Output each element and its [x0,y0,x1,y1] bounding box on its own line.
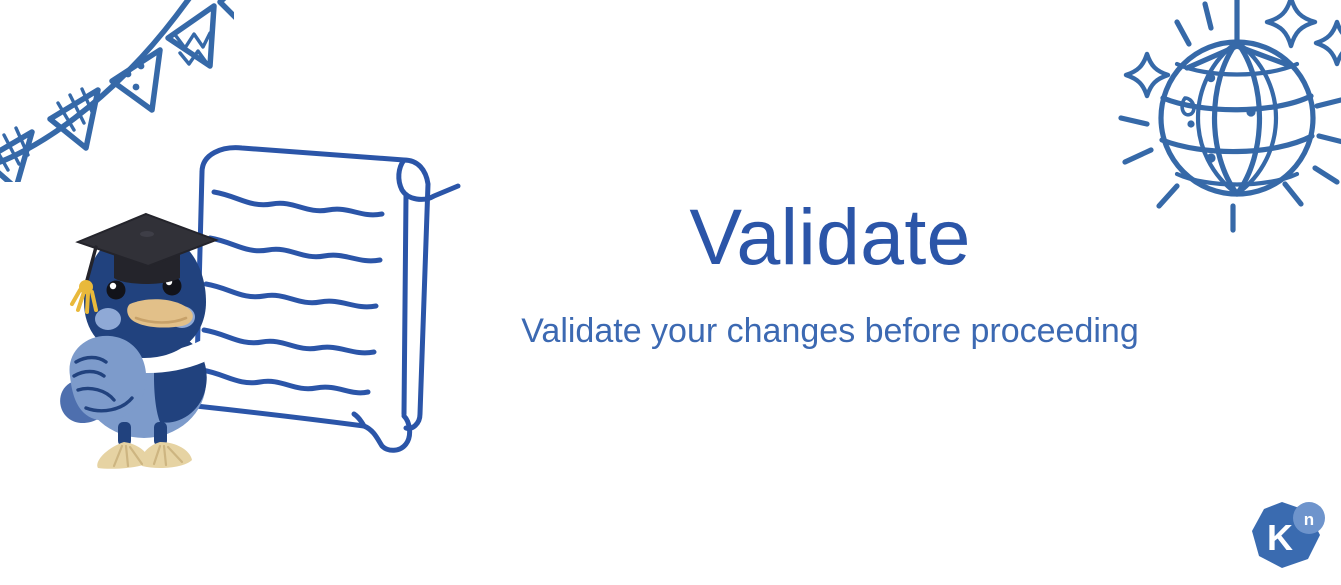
page-subtitle: Validate your changes before proceeding [470,312,1190,351]
graduate-bird-mascot [56,186,236,471]
knowledge-badge[interactable]: K n [1248,500,1326,572]
page-title: Validate [470,196,1190,279]
headline-block: Validate Validate your changes before pr… [470,196,1190,351]
badge-letter-k: K [1267,517,1293,558]
slide-canvas: Validate Validate your changes before pr… [0,0,1341,585]
badge-letter-n: n [1304,510,1314,529]
party-bunting-icon [0,0,234,182]
certificate-scroll-icon [168,138,468,458]
